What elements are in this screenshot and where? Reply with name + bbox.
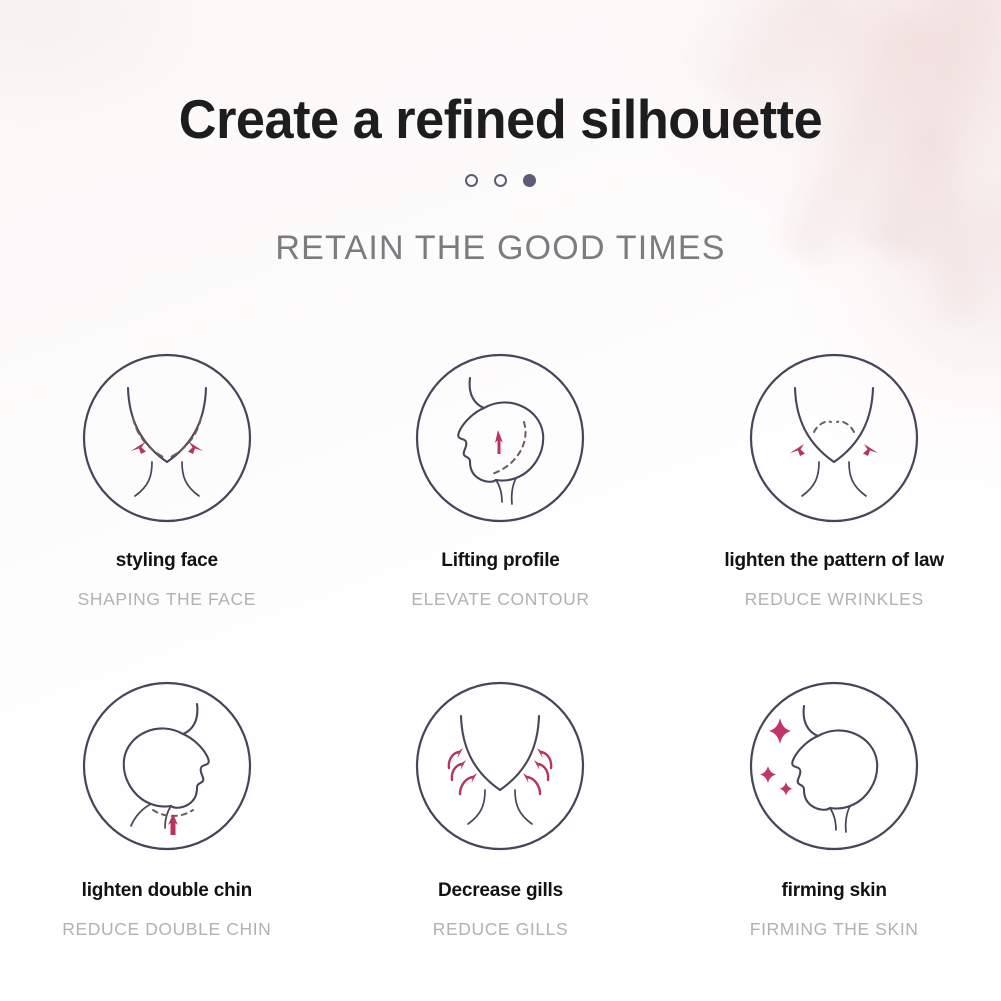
feature-title: Decrease gills [438,880,563,902]
page-title: Create a refined silhouette [25,89,976,150]
page-subtitle: RETAIN THE GOOD TIMES [0,229,1001,268]
feature-grid: styling face SHAPING THE FACE Lifting p [0,350,1001,998]
feature-card-lighten-double-chin[interactable]: lighten double chin REDUCE DOUBLE CHIN [0,678,334,998]
pagination-dot-3-active[interactable] [523,174,536,187]
feature-title: lighten the pattern of law [724,550,944,572]
feature-subtitle: ELEVATE CONTOUR [411,589,589,610]
side-profile-cheek-lift-icon [412,350,588,526]
front-face-v-shape-arrows-icon [79,350,255,526]
pagination-dot-2[interactable] [494,174,507,187]
feature-card-decrease-gills[interactable]: Decrease gills REDUCE GILLS [334,678,668,998]
feature-card-styling-face[interactable]: styling face SHAPING THE FACE [0,350,334,670]
feature-subtitle: FIRMING THE SKIN [750,919,919,940]
feature-subtitle: SHAPING THE FACE [78,589,256,610]
side-profile-double-chin-icon [79,678,255,854]
feature-card-lifting-profile[interactable]: Lifting profile ELEVATE CONTOUR [334,350,668,670]
feature-title: styling face [116,550,218,572]
feature-title: lighten double chin [82,880,252,902]
pagination-dot-1[interactable] [465,174,478,187]
carousel-pagination[interactable] [0,174,1001,187]
feature-subtitle: REDUCE GILLS [433,919,569,940]
feature-card-firming-skin[interactable]: firming skin FIRMING THE SKIN [667,678,1001,998]
front-face-nasolabial-lines-icon [746,350,922,526]
feature-title: firming skin [782,880,887,902]
feature-title: Lifting profile [441,550,559,572]
front-face-jawline-sweep-arrows-icon [412,678,588,854]
feature-subtitle: REDUCE WRINKLES [745,589,924,610]
promo-page: Create a refined silhouette RETAIN THE G… [0,0,1001,1001]
side-profile-sparkles-icon [746,678,922,854]
sparkle-decoration [760,718,793,796]
feature-card-lighten-pattern-of-law[interactable]: lighten the pattern of law REDUCE WRINKL… [667,350,1001,670]
feature-subtitle: REDUCE DOUBLE CHIN [62,919,271,940]
